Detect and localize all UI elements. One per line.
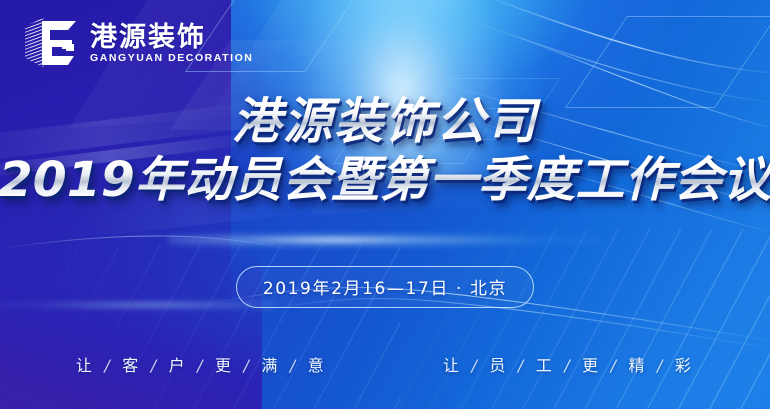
slogan-char: 彩 bbox=[675, 356, 694, 375]
slogan-char: 户 bbox=[169, 356, 188, 375]
slogan-separator: / bbox=[509, 356, 536, 375]
slogan-separator: / bbox=[601, 356, 628, 375]
slogan-separator: / bbox=[188, 356, 215, 375]
logo-wordmark: 港源装饰 GANGYUAN DECORATION bbox=[90, 22, 253, 65]
logo-chinese-name: 港源装饰 bbox=[90, 24, 253, 52]
logo-english-name: GANGYUAN DECORATION bbox=[90, 53, 253, 65]
slogan-row: 让 / 客 / 户 / 更 / 满 / 意 让 / 员 / 工 / 更 / 精 … bbox=[0, 352, 770, 376]
slogan-char: 让 bbox=[76, 356, 95, 375]
slogan-char: 员 bbox=[489, 356, 508, 375]
background-center-light-flare bbox=[169, 232, 600, 248]
company-logo: 港源装饰 GANGYUAN DECORATION bbox=[22, 16, 253, 70]
slogan-char: 客 bbox=[122, 356, 141, 375]
slogan-char: 意 bbox=[308, 356, 327, 375]
headline-block: 港源装饰公司 2019年动员会暨第一季度工作会议 bbox=[0, 96, 770, 209]
date-location-badge: 2019年2月16—17日 · 北京 bbox=[236, 266, 534, 308]
slogan-right: 让 / 员 / 工 / 更 / 精 / 彩 bbox=[443, 352, 694, 376]
slogan-separator: / bbox=[142, 356, 169, 375]
slogan-char: 工 bbox=[536, 356, 555, 375]
slogan-char: 更 bbox=[582, 356, 601, 375]
slogan-separator: / bbox=[95, 356, 122, 375]
slogan-char: 更 bbox=[215, 356, 234, 375]
event-banner: 港源装饰 GANGYUAN DECORATION 港源装饰公司 2019年动员会… bbox=[0, 0, 770, 409]
slogan-separator: / bbox=[462, 356, 489, 375]
slogan-separator: / bbox=[648, 356, 675, 375]
slogan-char: 精 bbox=[629, 356, 648, 375]
slogan-separator: / bbox=[234, 356, 261, 375]
headline-line-2: 2019年动员会暨第一季度工作会议 bbox=[0, 152, 770, 209]
headline-line-1: 港源装饰公司 bbox=[0, 96, 770, 148]
slogan-left: 让 / 客 / 户 / 更 / 满 / 意 bbox=[76, 352, 327, 376]
date-badge-wrapper: 2019年2月16—17日 · 北京 bbox=[0, 266, 770, 308]
slogan-separator: / bbox=[555, 356, 582, 375]
gangyuan-g-monogram-icon bbox=[22, 16, 80, 70]
slogan-char: 满 bbox=[261, 356, 280, 375]
slogan-separator: / bbox=[281, 356, 308, 375]
slogan-char: 让 bbox=[443, 356, 462, 375]
background-diagonal-lines-right bbox=[339, 229, 770, 409]
